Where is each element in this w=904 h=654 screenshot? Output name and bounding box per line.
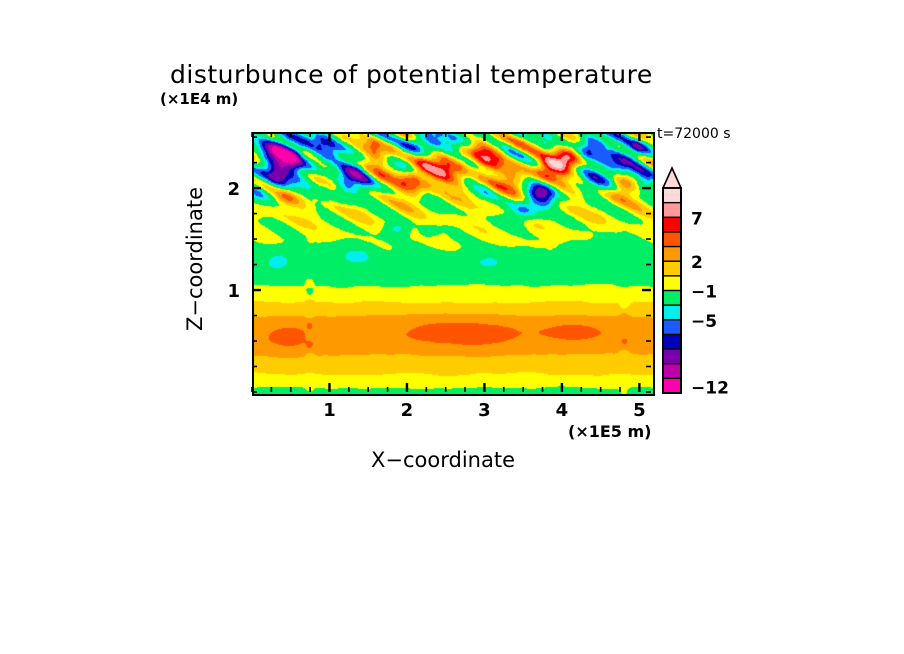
colorbar-band: [663, 378, 681, 393]
page-title: disturbunce of potential temperature: [170, 60, 653, 89]
x-tick-label: 1: [323, 400, 336, 421]
colorbar-label: −5: [691, 312, 717, 332]
x-tick-label: 4: [556, 400, 569, 421]
y-tick-label: 2: [227, 179, 240, 200]
x-axis-label: X−coordinate: [371, 448, 515, 472]
colorbar-arrow-top: [663, 168, 681, 188]
colorbar-band: [663, 364, 681, 379]
colorbar-label: −12: [691, 378, 729, 398]
colorbar-band: [663, 334, 681, 349]
x-tick-label: 3: [478, 400, 491, 421]
colorbar-label: 2: [691, 253, 703, 273]
colorbar-band: [663, 247, 681, 262]
colorbar-band: [663, 217, 681, 232]
colorbar-label: 7: [691, 209, 703, 229]
timestamp-label: t=72000 s: [657, 126, 731, 142]
colorbar-band: [663, 291, 681, 306]
x-tick-label: 2: [401, 400, 414, 421]
x-axis-unit-label: (×1E5 m): [568, 422, 651, 441]
colorbar-band: [663, 232, 681, 247]
heatmap-canvas: [254, 134, 653, 394]
colorbar-band: [663, 188, 681, 203]
colorbar-band: [663, 276, 681, 291]
x-tick-label: 5: [633, 400, 646, 421]
colorbar-band: [663, 203, 681, 218]
plot-area: [252, 132, 655, 396]
colorbar-band: [663, 349, 681, 364]
z-axis-unit-label: (×1E4 m): [160, 90, 238, 108]
y-axis-label: Z−coordinate: [183, 187, 207, 331]
colorbar-band: [663, 320, 681, 335]
contour-figure: disturbunce of potential temperature (×1…: [0, 0, 904, 654]
colorbar-band: [663, 305, 681, 320]
y-tick-label: 1: [227, 281, 240, 302]
colorbar-band: [663, 261, 681, 276]
colorbar-label: −1: [691, 283, 717, 303]
